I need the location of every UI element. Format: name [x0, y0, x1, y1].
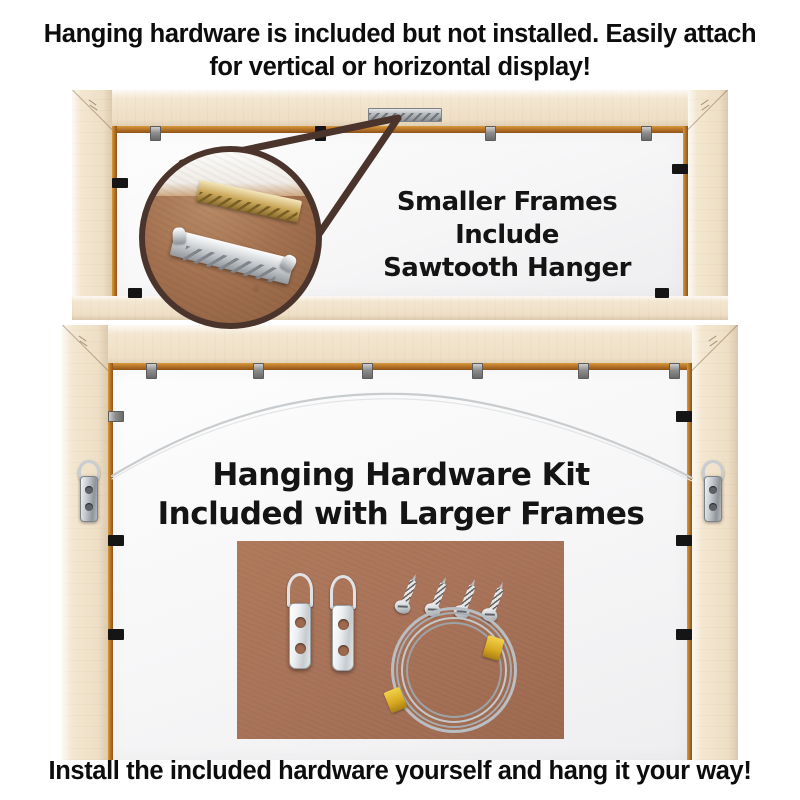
kit-d-ring-hanger [286, 573, 314, 671]
product-infographic: Hanging hardware is included but not ins… [0, 0, 800, 800]
hardware-kit-label-line2: Included with Larger Frames [96, 495, 706, 534]
sawtooth-magnifier-circle [139, 146, 322, 329]
smaller-frames-label: Smaller Frames Include Sawtooth Hanger [352, 186, 662, 285]
smaller-frames-label-line2: Include [352, 219, 662, 252]
magnifier-cork-texture [145, 152, 316, 323]
kit-coiled-hanging-wire [391, 607, 517, 733]
hanging-hardware-kit-photo [237, 541, 564, 739]
hardware-kit-label: Hanging Hardware Kit Included with Large… [96, 456, 706, 534]
kit-d-ring-hanger [329, 575, 357, 673]
hardware-kit-label-line1: Hanging Hardware Kit [96, 456, 706, 495]
smaller-frames-label-line3: Sawtooth Hanger [352, 252, 662, 285]
smaller-frames-label-line1: Smaller Frames [352, 186, 662, 219]
